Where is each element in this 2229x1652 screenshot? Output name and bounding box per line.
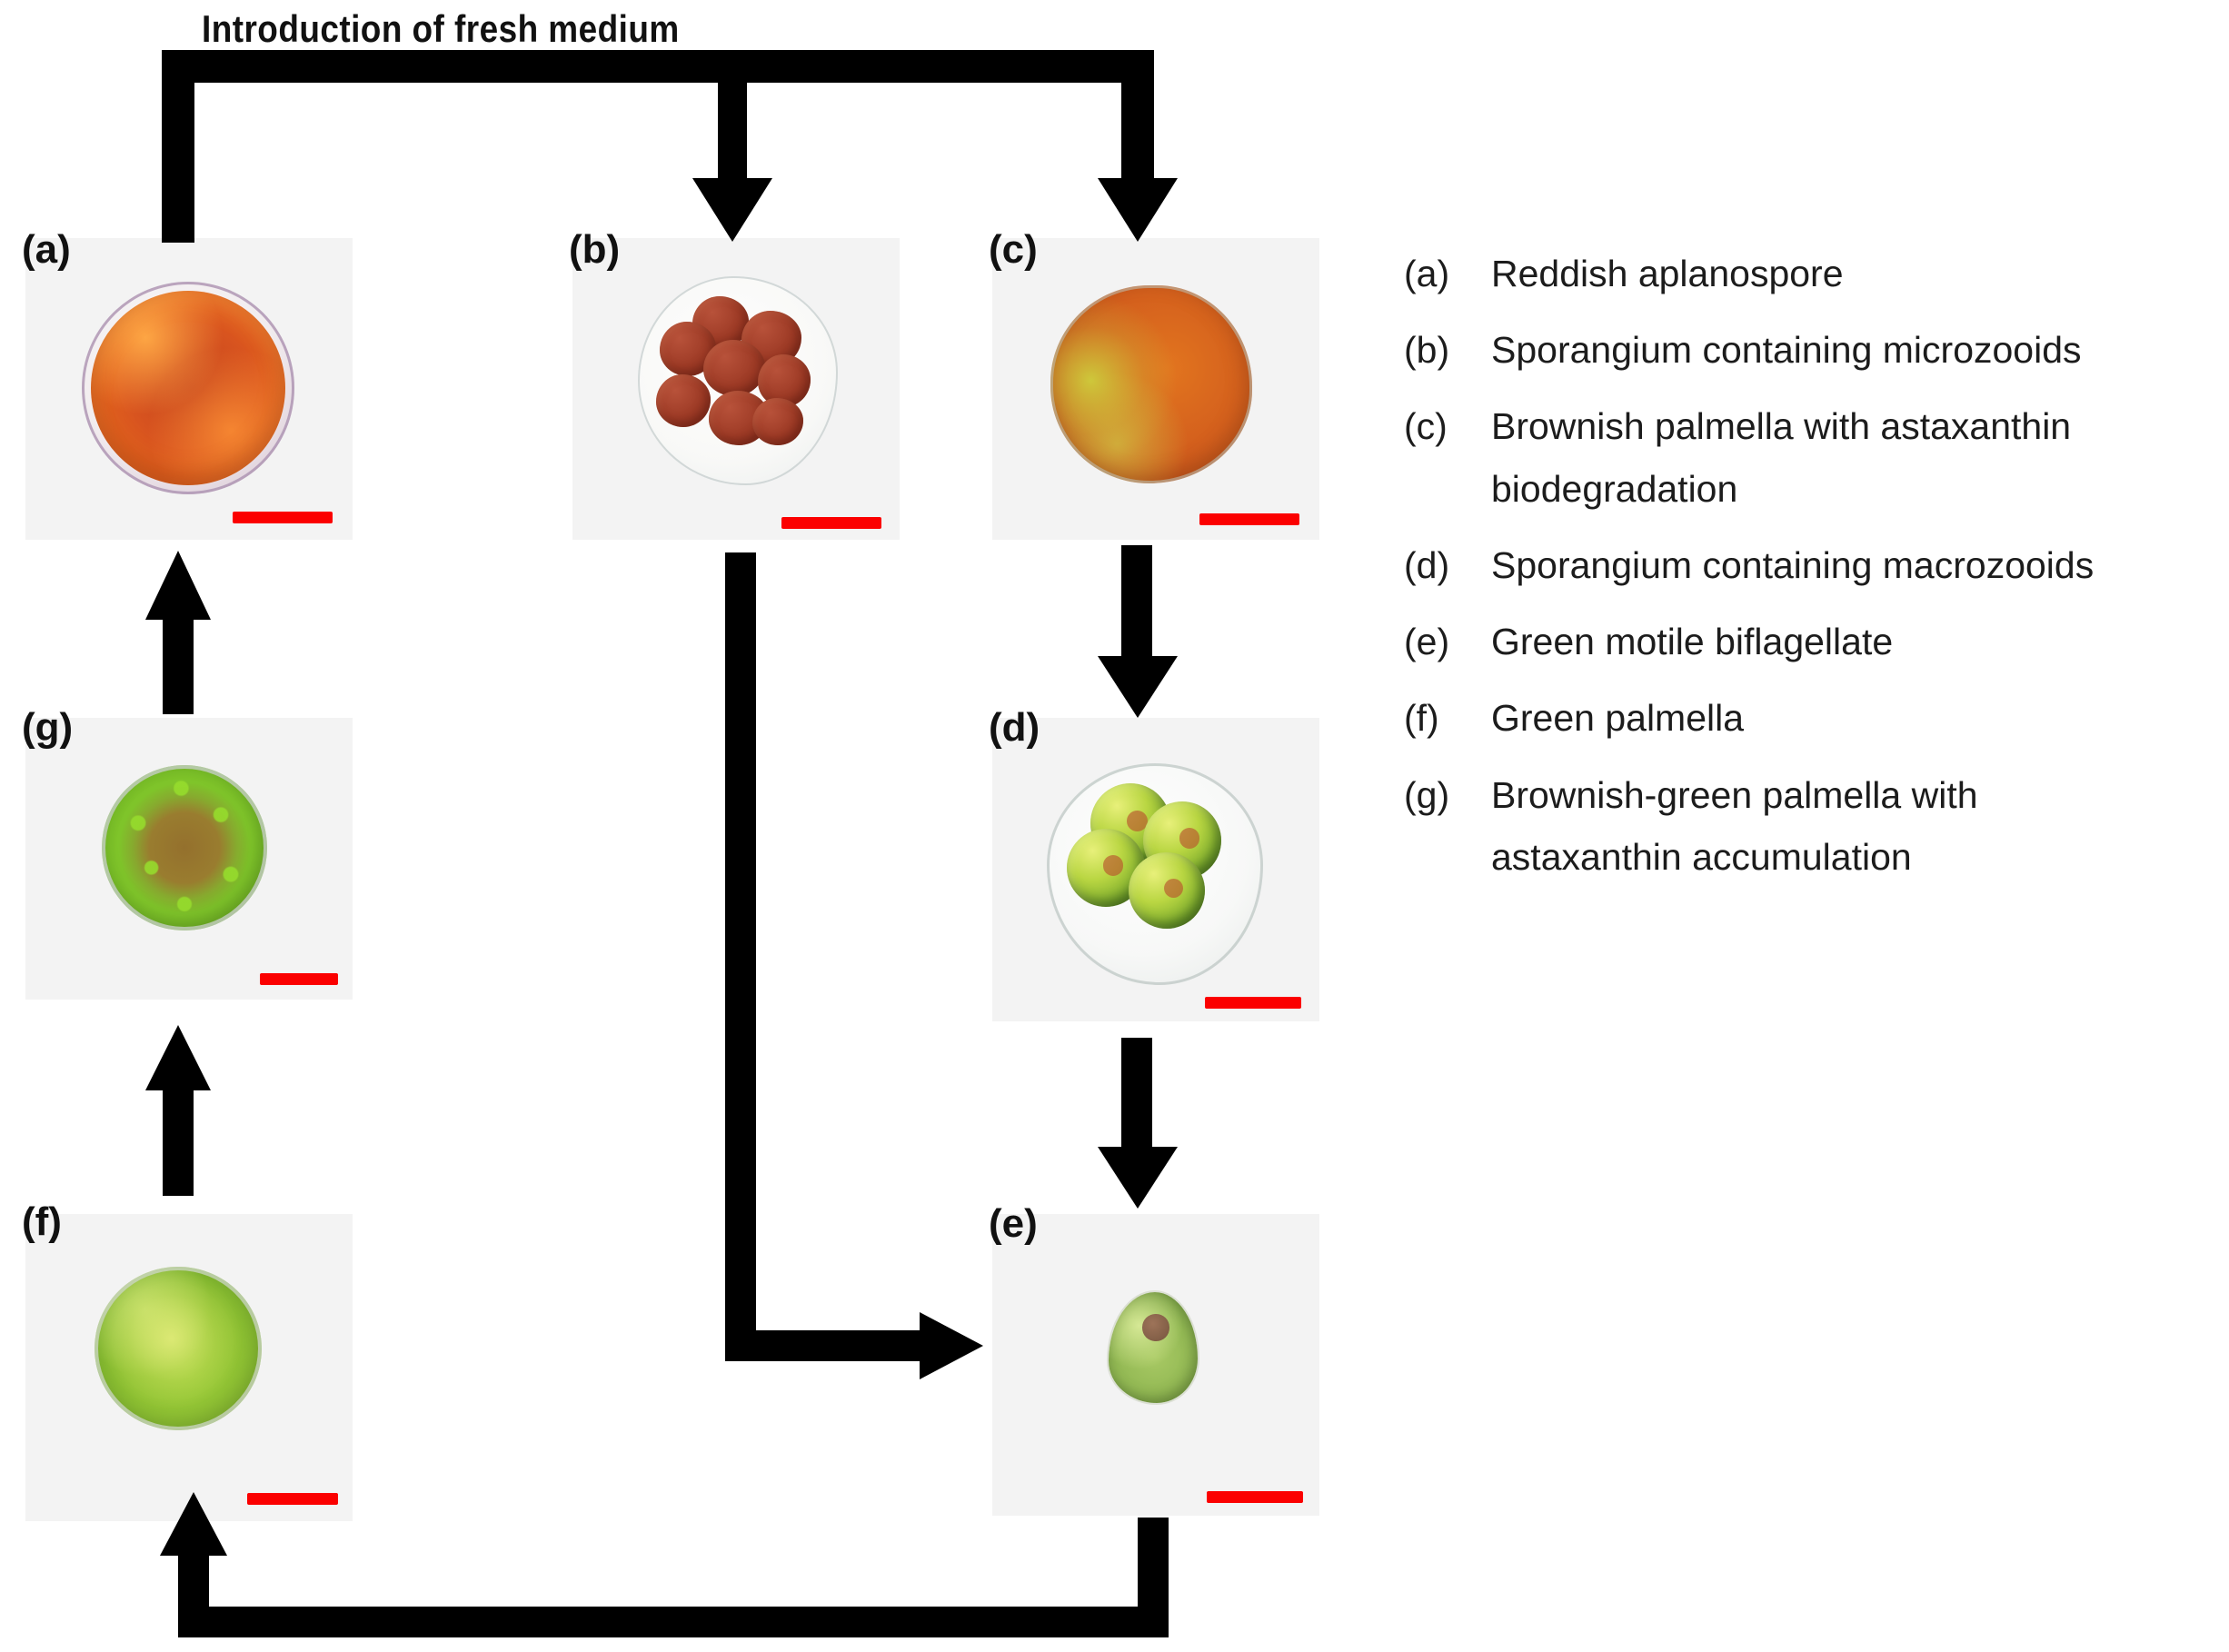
micrograph-c [992,238,1319,540]
legend-key-d: (d) [1404,539,1491,592]
micrograph-e [992,1214,1319,1516]
legend-label-c: Brownish palmella with astaxanthin [1491,400,2204,453]
arrow-a-to-bc [162,50,1178,243]
microzooid [656,374,711,427]
scale-bar-d [1205,997,1301,1009]
biflagellate-cell [1109,1292,1198,1403]
palmella-green [95,1267,262,1430]
figure-title: Introduction of fresh medium [202,7,680,51]
micrograph-f [25,1214,353,1521]
micrograph-b [572,238,900,540]
legend-label-e: Green motile biflagellate [1491,615,2204,668]
panel-d: (d) [992,718,1319,1021]
micrograph-a [25,238,353,540]
legend-key-g: (g) [1404,769,1491,821]
legend-label-c-cont: biodegradation [1491,463,2204,515]
legend-label-b: Sporangium containing microzooids [1491,323,2204,376]
arrow-c-to-d [1098,545,1178,718]
scale-bar-e [1207,1491,1303,1503]
panel-f-label: (f) [22,1199,62,1245]
legend-item-g-cont: astaxanthin accumulation [1404,831,2204,883]
micrograph-d [992,718,1319,1021]
scale-bar-b [781,517,881,529]
microzooid [752,398,803,445]
panel-g-label: (g) [22,705,73,751]
panel-c: (c) [992,238,1319,540]
legend-item-e: (e) Green motile biflagellate [1404,615,2204,668]
legend-key-a: (a) [1404,247,1491,300]
chloroplast-specks [102,765,267,930]
legend-key-c: (c) [1404,400,1491,453]
panel-e-label: (e) [989,1201,1038,1247]
figure-canvas: Introduction of fresh medium (a) (b) (c) [0,0,2229,1652]
palmella-brownish [1050,285,1252,483]
legend-key-e: (e) [1404,615,1491,668]
legend-label-g: Brownish-green palmella with [1491,769,2204,821]
panel-a: (a) [25,238,353,540]
panel-f: (f) [25,1214,353,1521]
palmella-brownish-green [102,765,267,930]
panel-c-label: (c) [989,227,1038,273]
arrow-g-to-a [145,551,211,714]
legend-label-f: Green palmella [1491,692,2204,744]
legend-item-b: (b) Sporangium containing microzooids [1404,323,2204,376]
legend-label-d: Sporangium containing macrozooids [1491,539,2204,592]
panel-g: (g) [25,718,353,1000]
cell-nucleus [1142,1314,1169,1340]
micrograph-g [25,718,353,1000]
scale-bar-c [1199,513,1299,525]
scale-bar-g [260,973,338,985]
panel-a-label: (a) [22,227,71,273]
legend-key-b: (b) [1404,323,1491,376]
legend-item-c-cont: biodegradation [1404,463,2204,515]
legend-item-c: (c) Brownish palmella with astaxanthin [1404,400,2204,453]
legend-item-f: (f) Green palmella [1404,692,2204,744]
legend-item-g: (g) Brownish-green palmella with [1404,769,2204,821]
scale-bar-a [233,512,333,523]
scale-bar-f [247,1493,338,1505]
panel-d-label: (d) [989,705,1040,751]
macrozooid [1129,852,1205,929]
panel-b-label: (b) [569,227,620,273]
panel-b: (b) [572,238,900,540]
legend-label-g-cont: astaxanthin accumulation [1491,831,2204,883]
microzooid [703,340,765,396]
arrow-b-to-e [725,552,983,1379]
aplanospore-body [91,291,285,485]
arrow-f-to-g [145,1025,211,1196]
legend-item-d: (d) Sporangium containing macrozooids [1404,539,2204,592]
legend-label-a: Reddish aplanospore [1491,247,2204,300]
legend-item-a: (a) Reddish aplanospore [1404,247,2204,300]
panel-e: (e) [992,1214,1319,1516]
legend-key-f: (f) [1404,692,1491,744]
legend: (a) Reddish aplanospore (b) Sporangium c… [1404,247,2204,907]
arrow-d-to-e [1098,1038,1178,1209]
